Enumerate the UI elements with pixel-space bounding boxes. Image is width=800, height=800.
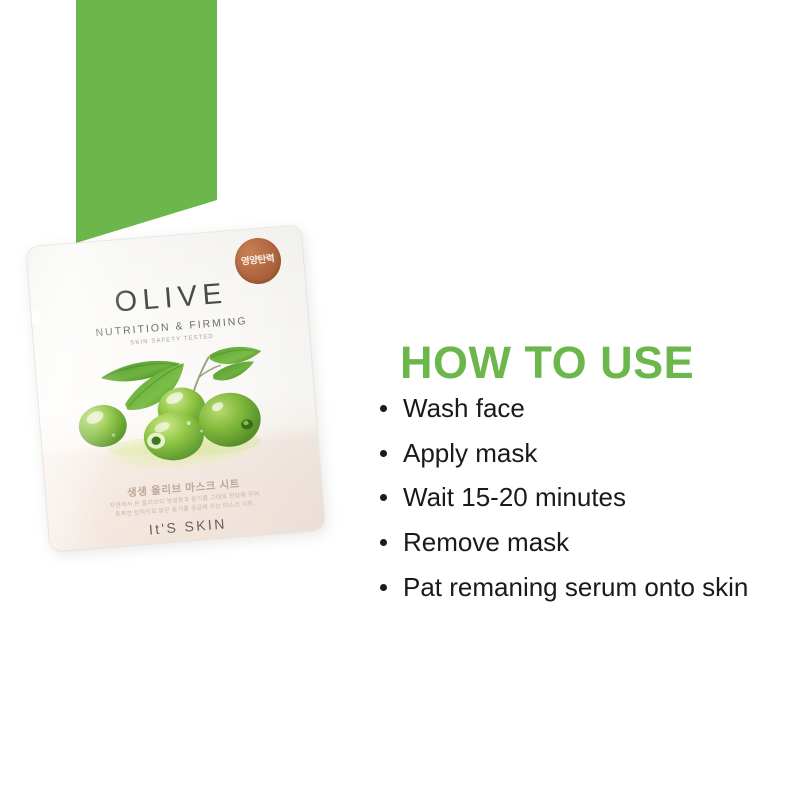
- list-item: Remove mask: [372, 527, 780, 559]
- bullet-icon: [380, 539, 387, 546]
- step-label: Pat remaning serum onto skin: [403, 572, 748, 602]
- green-accent-bar: [76, 0, 217, 243]
- product-infographic: 영양탄력 OLIVE NUTRITION & FIRMING SKIN SAFE…: [0, 0, 800, 800]
- list-item: Wait 15-20 minutes: [372, 482, 780, 514]
- bullet-icon: [380, 405, 387, 412]
- olive-branch-illustration: [61, 339, 293, 486]
- list-item: Apply mask: [372, 438, 780, 470]
- step-label: Wash face: [403, 393, 525, 423]
- list-item: Pat remaning serum onto skin: [372, 572, 780, 604]
- mask-sheet-sachet: 영양탄력 OLIVE NUTRITION & FIRMING SKIN SAFE…: [26, 225, 325, 551]
- product-package-image: 영양탄력 OLIVE NUTRITION & FIRMING SKIN SAFE…: [30, 214, 330, 564]
- list-item: Wash face: [372, 393, 780, 425]
- nutrition-badge-label: 영양탄력: [241, 255, 275, 268]
- how-to-use-heading: HOW TO USE: [400, 340, 780, 385]
- how-to-use-steps: Wash face Apply mask Wait 15-20 minutes …: [372, 393, 780, 604]
- step-label: Wait 15-20 minutes: [403, 482, 626, 512]
- bullet-icon: [380, 450, 387, 457]
- bullet-icon: [380, 584, 387, 591]
- step-label: Apply mask: [403, 438, 537, 468]
- step-label: Remove mask: [403, 527, 569, 557]
- bullet-icon: [380, 494, 387, 501]
- how-to-use-panel: HOW TO USE Wash face Apply mask Wait 15-…: [372, 340, 780, 617]
